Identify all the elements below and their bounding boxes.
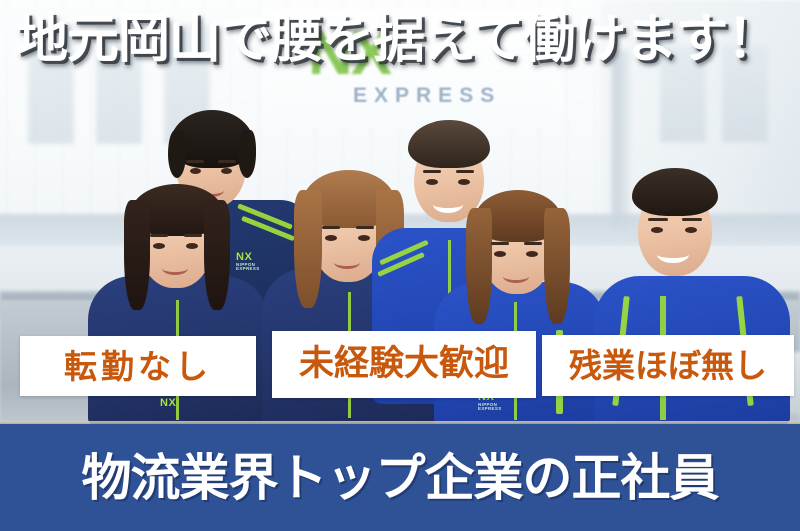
feature-badge-label: 残業ほぼ無し [569, 349, 767, 382]
eye [221, 168, 232, 174]
hair-side [168, 130, 186, 178]
eyebrow [682, 218, 702, 221]
uniform-nx-sublabel: NIPPON EXPRESS [236, 263, 260, 272]
mouth [433, 196, 463, 213]
eyebrow [648, 218, 668, 221]
feature-badge-group: 転勤なし 未経験大歓迎 残業ほぼ無し [0, 330, 800, 400]
mouth [657, 246, 689, 263]
feature-badge: 残業ほぼ無し [542, 335, 794, 396]
eye [651, 227, 663, 233]
bottom-banner-text: 物流業界トップ企業の正社員 [82, 453, 719, 503]
hair-side [204, 200, 230, 310]
feature-badge-label: 未経験大歓迎 [299, 347, 509, 382]
eyebrow [356, 226, 374, 229]
hair-side [294, 190, 322, 308]
eyebrow [423, 170, 441, 173]
eyebrow [184, 234, 202, 237]
eyebrow [218, 160, 236, 163]
warehouse-edge-shadow [612, 50, 630, 230]
hair-side [124, 200, 150, 310]
eye [458, 179, 470, 185]
recruitment-banner: NX EXPRESS NXNIPPON EXPRESS [0, 0, 800, 531]
eye [186, 243, 198, 249]
feature-badge-label: 転勤なし [64, 350, 212, 383]
eye [153, 243, 165, 249]
eyebrow [322, 226, 340, 229]
eye [358, 235, 370, 241]
eye [190, 168, 201, 174]
eyebrow [456, 170, 474, 173]
mouth [503, 270, 529, 283]
mouth [162, 262, 188, 275]
eyebrow [491, 242, 509, 245]
feature-badge: 転勤なし [20, 336, 256, 396]
hair-side [466, 208, 492, 324]
eyebrow [150, 234, 168, 237]
eyebrow [524, 242, 542, 245]
eye [426, 179, 438, 185]
eye [526, 251, 538, 257]
hair-side [544, 208, 570, 324]
uniform-nx-sublabel: NIPPON EXPRESS [478, 403, 502, 412]
headline-text: 地元岡山で腰を据えて働けます！ [16, 14, 778, 66]
eye [325, 235, 337, 241]
uniform-nx-logo: NXNIPPON EXPRESS [236, 252, 260, 272]
eye [685, 227, 697, 233]
eye [494, 251, 506, 257]
hair-side [238, 130, 256, 178]
eyebrow [186, 160, 204, 163]
mouth [334, 256, 360, 269]
feature-badge: 未経験大歓迎 [272, 331, 536, 398]
bottom-banner-bar: 物流業界トップ企業の正社員 [0, 424, 800, 531]
nx-express-wordmark: EXPRESS [353, 84, 501, 108]
